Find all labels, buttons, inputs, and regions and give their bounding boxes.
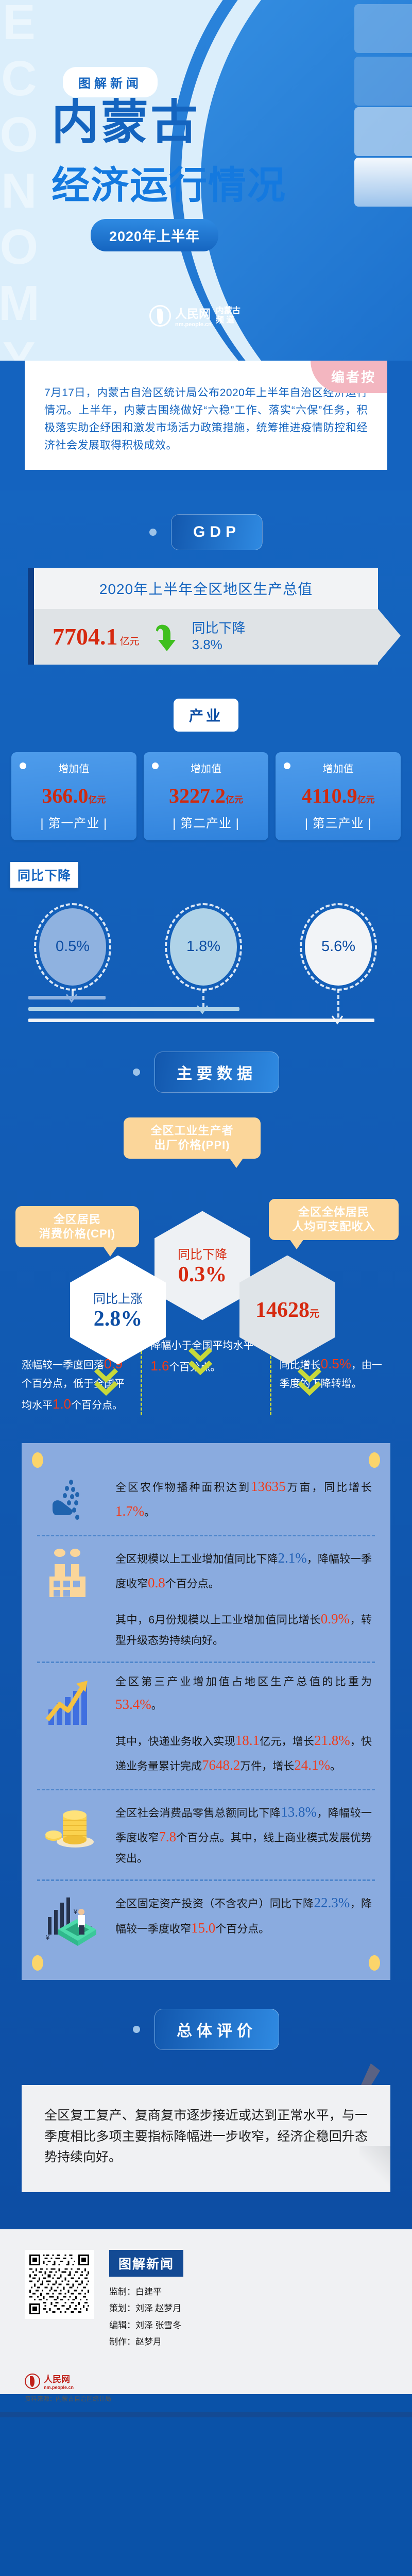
industry-heading-label: 产业 bbox=[174, 699, 238, 732]
gdp-value-group: 7704.1亿元 bbox=[53, 623, 140, 650]
heading-dot-icon bbox=[149, 529, 157, 536]
hex-cpi-value: 2.8% bbox=[94, 1307, 143, 1331]
hero-date-pill: 2020年上半年 bbox=[91, 219, 218, 251]
growth-chart-icon bbox=[40, 1672, 102, 1729]
detail-row-services: 全区第三产业增加值占地区生产总值的比重为53.4%。 其中，快递业务收入实现18… bbox=[37, 1662, 375, 1789]
logo-url: nm.people.cn bbox=[175, 321, 212, 328]
footer-logo-row: 人民网 nm.people.cn bbox=[0, 2364, 412, 2394]
trend-rate-2: 1.8% bbox=[170, 908, 237, 986]
decor-square-2 bbox=[354, 57, 412, 106]
heading-dot-icon bbox=[133, 1069, 140, 1076]
bubble-ppi: 全区工业生产者出厂价格(PPI) bbox=[124, 1117, 261, 1159]
industry-card-primary[interactable]: 增加值 366.0亿元 | 第一产业 | bbox=[11, 752, 136, 840]
logo-text-group: 人民网 nm.people.cn bbox=[175, 304, 212, 328]
detail-text-investment: 全区固定资产投资（不含农户）同比下降22.3%，降幅较一季度收窄15.0个百分点… bbox=[115, 1890, 372, 1940]
footer-credits: 图解新闻 监制：白建平 策划：刘泽 赵梦月 编辑：刘泽 张雪冬 制作：赵梦月 bbox=[109, 2250, 387, 2350]
qr-code-image bbox=[28, 2253, 91, 2316]
gdp-unit: 亿元 bbox=[120, 636, 140, 647]
gdp-accent-bar bbox=[28, 568, 34, 664]
double-chevron-down-icon bbox=[94, 1368, 118, 1398]
page-fold-decor bbox=[359, 2146, 390, 2192]
details-panel: 全区农作物播种面积达到13635万亩，同比增长1.7%。 bbox=[22, 1443, 390, 1980]
industry-card-name: | 第一产业 | bbox=[16, 813, 131, 831]
footer-logo-name: 人民网 bbox=[44, 2372, 74, 2385]
trend-bar-2 bbox=[28, 1007, 239, 1011]
trend-bar-3 bbox=[28, 1019, 374, 1022]
gdp-compare-value: 3.8% bbox=[192, 637, 246, 653]
summary-card: 全区复工复产、复商复市逐步接近或达到正常水平，与一季度相比多项主要指标降幅进一步… bbox=[22, 2085, 390, 2192]
logo-channel-line2: 频 道 bbox=[216, 316, 241, 325]
credit-line: 编辑：刘泽 张雪冬 bbox=[109, 2317, 387, 2334]
credit-line: 监制：白建平 bbox=[109, 2284, 387, 2300]
trend-tag: 同比下降 bbox=[10, 862, 78, 888]
hex-ppi: 同比下降 0.3% bbox=[154, 1211, 250, 1320]
trend-rate-3: 5.6% bbox=[305, 908, 372, 986]
industry-card-value: 3227.2 bbox=[169, 784, 226, 807]
hex-ppi-label: 同比下降 bbox=[178, 1244, 227, 1262]
industry-card-tertiary[interactable]: 增加值 4110.9亿元 | 第三产业 | bbox=[276, 752, 401, 840]
hero-watermark-text: ECONOMY bbox=[0, 0, 41, 325]
detail-row-retail: 全区社会消费品零售总额同比下降13.8%，降幅较一季度收窄7.8个百分点。其中，… bbox=[37, 1789, 375, 1879]
industry-card-unit: 亿元 bbox=[88, 795, 106, 805]
intro-section: 编者按 7月17日，内蒙古自治区统计局公布2020年上半年自治区经济运行情况。上… bbox=[0, 361, 412, 490]
gdp-compare-label: 同比下降 bbox=[192, 620, 246, 637]
detail-text-agriculture: 全区农作物播种面积达到13635万亩，同比增长1.7%。 bbox=[115, 1474, 372, 1523]
svg-text:¥: ¥ bbox=[73, 1908, 78, 1916]
industry-card-label: 增加值 bbox=[58, 760, 89, 775]
industry-card-value: 366.0 bbox=[42, 784, 88, 807]
gdp-section: GDP 2020年上半年全区地区生产总值 7704.1亿元 同比下降 3.8% bbox=[0, 490, 412, 2229]
people-cn-logo: 人民网 nm.people.cn 内蒙古 频 道 bbox=[149, 304, 241, 328]
source-note: 资料来源：内蒙古自治区统计局 bbox=[0, 2394, 412, 2412]
detail-text-services: 全区第三产业增加值占地区生产总值的比重为53.4%。 其中，快递业务收入实现18… bbox=[115, 1672, 372, 1777]
trend-bar-1 bbox=[28, 996, 106, 999]
credit-line: 策划：刘泽 赵梦月 bbox=[109, 2300, 387, 2317]
hex-income-value-group: 14628元 bbox=[255, 1298, 319, 1323]
bullet-icon bbox=[20, 762, 26, 769]
trend-circles: 0.5% 1.8% 5.6% bbox=[0, 897, 412, 995]
intro-card: 编者按 7月17日，内蒙古自治区统计局公布2020年上半年自治区经济运行情况。上… bbox=[25, 361, 387, 470]
double-chevron-down-icon bbox=[298, 1368, 321, 1398]
coins-icon bbox=[40, 1800, 102, 1851]
footer: 图解新闻 监制：白建平 策划：刘泽 赵梦月 编辑：刘泽 张雪冬 制作：赵梦月 bbox=[0, 2229, 412, 2364]
detail-text-industry: 全区规模以上工业增加值同比下降2.1%，降幅较一季度收窄0.8个百分点。 其中，… bbox=[115, 1546, 372, 1651]
double-chevron-down-icon bbox=[188, 1348, 212, 1378]
industry-card-label: 增加值 bbox=[323, 760, 354, 775]
hero-badge: 图解新闻 bbox=[63, 67, 158, 97]
pin-icon bbox=[32, 1955, 43, 1971]
hex-cpi-label: 同比上涨 bbox=[93, 1289, 143, 1307]
detail-row-industry: 全区规模以上工业增加值同比下降2.1%，降幅较一季度收窄0.8个百分点。 其中，… bbox=[37, 1535, 375, 1662]
industry-heading: 产业 bbox=[0, 670, 412, 749]
heading-dot-icon bbox=[133, 2026, 140, 2033]
pin-icon bbox=[369, 1452, 380, 1468]
hex-income-value: 14628 bbox=[255, 1298, 310, 1322]
bullet-icon bbox=[152, 762, 159, 769]
page-title: 内蒙古 bbox=[51, 99, 200, 147]
svg-text:¥: ¥ bbox=[45, 1934, 50, 1941]
footer-people-logo: 人民网 nm.people.cn bbox=[25, 2372, 74, 2390]
factory-icon bbox=[40, 1546, 102, 1602]
footer-logo-url: nm.people.cn bbox=[44, 2385, 74, 2390]
decor-square-1 bbox=[354, 4, 412, 53]
industry-card-name: | 第三产业 | bbox=[281, 813, 396, 831]
bullet-icon bbox=[284, 762, 290, 769]
gdp-heading: GDP bbox=[0, 490, 412, 568]
detail-text-retail: 全区社会消费品零售总额同比下降13.8%，降幅较一季度收窄7.8个百分点。其中，… bbox=[115, 1800, 372, 1868]
qr-code[interactable] bbox=[25, 2250, 94, 2319]
hex-income-unit: 元 bbox=[310, 1309, 319, 1319]
industry-card-unit: 亿元 bbox=[226, 795, 243, 805]
gdp-value: 7704.1 bbox=[53, 623, 118, 650]
credit-line: 制作：赵梦月 bbox=[109, 2334, 387, 2350]
gdp-caption-row: 2020年上半年全区地区生产总值 bbox=[34, 568, 378, 609]
pin-icon bbox=[369, 1955, 380, 1971]
logo-channel-line1: 内蒙古 bbox=[216, 307, 241, 316]
intro-text: 7月17日，内蒙古自治区统计局公布2020年上半年自治区经济运行情况。上半年，内… bbox=[44, 384, 368, 454]
summary-heading-label: 总体评价 bbox=[154, 2009, 279, 2050]
trend-rate-1: 0.5% bbox=[39, 908, 106, 986]
investment-icon: ¥ ¥ ¥ bbox=[40, 1890, 102, 1947]
keydata-heading: 主要数据 bbox=[0, 1025, 412, 1110]
logo-channel: 内蒙古 频 道 bbox=[216, 307, 241, 326]
decor-square-3 bbox=[354, 107, 412, 156]
gdp-compare-group: 同比下降 3.8% bbox=[192, 620, 246, 653]
summary-heading: 总体评价 bbox=[0, 1980, 412, 2067]
industry-card-secondary[interactable]: 增加值 3227.2亿元 | 第二产业 | bbox=[144, 752, 269, 840]
arrow-down-icon bbox=[153, 621, 179, 652]
hex-ppi-value: 0.3% bbox=[178, 1262, 227, 1287]
sowing-seeds-icon bbox=[40, 1474, 102, 1523]
people-logo-icon bbox=[25, 2374, 40, 2389]
hero-header: ECONOMY 图解新闻 内蒙古 经济运行情况 2020年上半年 人民网 nm.… bbox=[0, 0, 412, 361]
industry-cards: 增加值 366.0亿元 | 第一产业 | 增加值 3227.2亿元 | 第二产业… bbox=[11, 752, 401, 840]
detail-row-investment: ¥ ¥ ¥ 全区固定资产投资（不含农户）同比下降22.3%，降幅较一季度收窄15… bbox=[37, 1879, 375, 1958]
keydata-heading-label: 主要数据 bbox=[154, 1052, 279, 1093]
summary-text: 全区复工复产、复商复市逐步接近或达到正常水平，与一季度相比多项主要指标降幅进一步… bbox=[44, 2106, 368, 2168]
industry-card-name: | 第二产业 | bbox=[149, 813, 264, 831]
gdp-card: 2020年上半年全区地区生产总值 7704.1亿元 同比下降 3.8% bbox=[34, 568, 378, 664]
gdp-caption: 2020年上半年全区地区生产总值 bbox=[99, 581, 313, 597]
trend-section: 同比下降 0.5% 1.8% 5.6% bbox=[0, 840, 412, 1025]
bubble-income: 全区全体居民人均可支配收入 bbox=[269, 1199, 399, 1240]
footer-credits-title: 图解新闻 bbox=[109, 2250, 183, 2277]
industry-card-unit: 亿元 bbox=[357, 795, 375, 805]
page-subtitle: 经济运行情况 bbox=[51, 155, 286, 210]
bubble-cpi: 全区居民消费价格(CPI) bbox=[15, 1206, 139, 1247]
pin-icon bbox=[32, 1452, 43, 1468]
gdp-heading-label: GDP bbox=[171, 514, 263, 550]
detail-row-agriculture: 全区农作物播种面积达到13635万亩，同比增长1.7%。 bbox=[37, 1465, 375, 1535]
logo-name: 人民网 bbox=[175, 304, 212, 321]
spacer bbox=[0, 2192, 412, 2228]
gdp-value-row: 7704.1亿元 同比下降 3.8% bbox=[34, 609, 378, 664]
infographic-page: ECONOMY 图解新闻 内蒙古 经济运行情况 2020年上半年 人民网 nm.… bbox=[0, 0, 412, 2417]
people-logo-icon bbox=[149, 305, 171, 327]
industry-card-label: 增加值 bbox=[191, 760, 221, 775]
trend-bars bbox=[0, 991, 412, 1025]
summary-card-wrap: 全区复工复产、复商复市逐步接近或达到正常水平，与一季度相比多项主要指标降幅进一步… bbox=[22, 2085, 390, 2192]
industry-card-value: 4110.9 bbox=[302, 784, 357, 807]
footer-bar bbox=[0, 2412, 412, 2417]
decor-square-4 bbox=[354, 158, 412, 207]
keydata-hexagons: 全区工业生产者出厂价格(PPI) 全区居民消费价格(CPI) 全区全体居民人均可… bbox=[0, 1113, 412, 1335]
